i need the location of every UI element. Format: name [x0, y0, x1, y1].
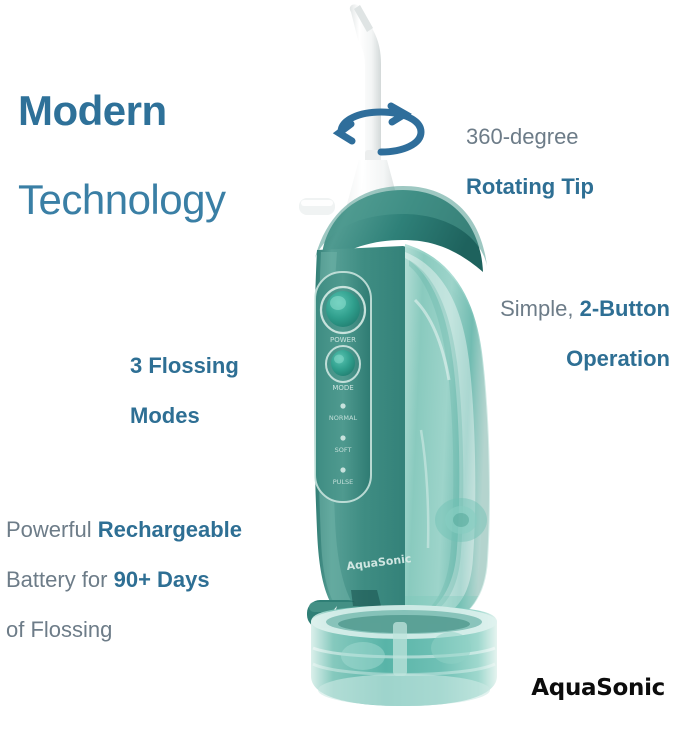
callout-flossing-modes-line-1: 3 Flossing [130, 354, 239, 379]
power-button-label: POWER [330, 336, 356, 344]
callout-two-button-bold: 2-Button [580, 296, 670, 321]
tank-base [311, 605, 497, 706]
aquasonic-logo: AquaSonic [531, 675, 665, 701]
headline-line-1: Modern [18, 87, 225, 134]
mode-label-soft: SOFT [335, 446, 352, 454]
base-bottom-rim [318, 674, 490, 706]
nozzle-release-button[interactable] [299, 198, 335, 215]
callout-battery: Powerful Rechargeable Battery for 90+ Da… [6, 492, 242, 667]
mode-indicator-dot [340, 435, 345, 440]
control-panel: POWER MODE NORMAL SOFT PULSE [315, 272, 371, 502]
callout-battery-l2-bold: 90+ Days [114, 567, 210, 592]
port-recess [351, 590, 381, 606]
mode-indicator-dot [340, 467, 345, 472]
callout-battery-line-2: Battery for 90+ Days [6, 568, 242, 593]
mode-button-label: MODE [332, 384, 353, 392]
mode-label-pulse: PULSE [333, 478, 354, 486]
callout-battery-line-1: Powerful Rechargeable [6, 518, 242, 543]
base-intake-tube [393, 622, 407, 676]
callout-flossing-modes: 3 Flossing Modes [130, 329, 239, 453]
page-title: Modern Technology [18, 42, 225, 267]
product-image-water-flosser: POWER MODE NORMAL SOFT PULSE [255, 0, 545, 715]
callout-flossing-modes-line-2: Modes [130, 404, 239, 429]
mode-indicator-dot [340, 403, 345, 408]
callout-battery-l1-bold: Rechargeable [98, 517, 242, 542]
mode-label-normal: NORMAL [329, 414, 358, 422]
power-button[interactable] [321, 287, 365, 333]
headline-line-2: Technology [18, 176, 225, 223]
callout-battery-l1-light: Powerful [6, 517, 98, 542]
callout-battery-l2-light: Battery for [6, 567, 114, 592]
callout-battery-line-3: of Flossing [6, 618, 242, 643]
product-marketing-canvas: Modern Technology 360-degree Rotating Ti… [0, 0, 679, 729]
